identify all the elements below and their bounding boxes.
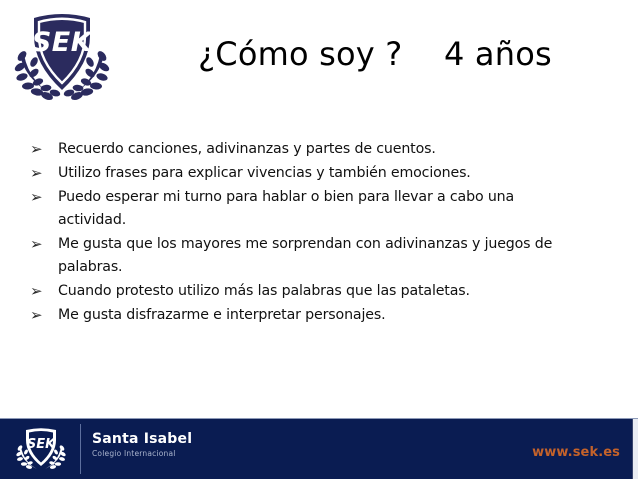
list-item: ➢ Cuando protesto utilizo más las palabr… [0,280,638,303]
list-item: ➢ Utilizo frases para explicar vivencias… [0,162,638,185]
chevron-bullet-icon: ➢ [30,186,58,209]
bullet-list: ➢ Recuerdo canciones, adivinanzas y part… [0,138,638,402]
sek-shield-laurel-icon: SEK [13,425,69,473]
chevron-bullet-icon: ➢ [30,233,58,256]
list-item: ➢ Me gusta que los mayores me sorprendan… [0,233,638,279]
footer-brand-subtitle: Colegio Internacional [92,449,192,459]
footer-brand: Santa Isabel Colegio Internacional [92,431,192,459]
chevron-bullet-icon: ➢ [30,162,58,185]
slide-header: SEK ¿Cómo soy ? 4 años [0,0,638,112]
list-item-text: Cuando protesto utilizo más las palabras… [58,280,582,303]
list-item: ➢ Recuerdo canciones, adivinanzas y part… [0,138,638,161]
list-item: ➢ Puedo esperar mi turno para hablar o b… [0,186,638,232]
page-title: ¿Cómo soy ? 4 años [120,34,630,74]
chevron-bullet-icon: ➢ [30,304,58,327]
list-item-text: Puedo esperar mi turno para hablar o bie… [58,186,582,232]
chevron-bullet-icon: ➢ [30,138,58,161]
list-item-text: Utilizo frases para explicar vivencias y… [58,162,582,185]
slide-footer: SEK Santa Isabel Colegio Internacional w… [0,418,638,479]
sek-logo-wordmark: SEK [32,27,94,58]
list-item-text: Me gusta disfrazarme e interpretar perso… [58,304,582,327]
list-item-text: Recuerdo canciones, adivinanzas y partes… [58,138,582,161]
sek-logo-wordmark: SEK [27,437,56,452]
list-item-text: Me gusta que los mayores me sorprendan c… [58,233,582,279]
footer-divider [80,424,81,474]
list-item: ➢ Me gusta disfrazarme e interpretar per… [0,304,638,327]
footer-inner: SEK Santa Isabel Colegio Internacional w… [0,419,638,479]
footer-brand-name: Santa Isabel [92,431,192,447]
footer-website-link[interactable]: www.sek.es [532,445,620,461]
sek-shield-laurel-icon: SEK [8,6,116,108]
slide-canvas: SEK ¿Cómo soy ? 4 años ➢ Recuerdo cancio… [0,0,638,479]
chevron-bullet-icon: ➢ [30,280,58,303]
footer-right-strip [632,419,638,479]
